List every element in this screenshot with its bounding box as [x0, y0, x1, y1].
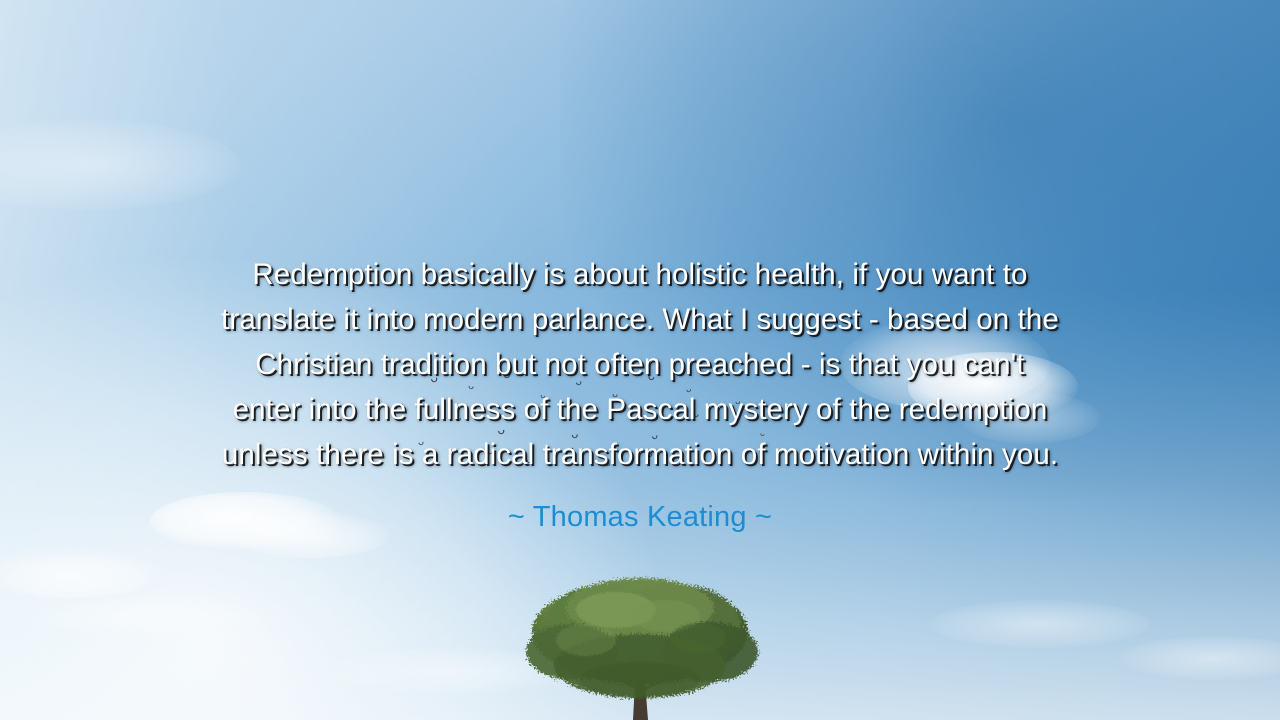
quote-image-canvas: ᴗᴗᴗᴗᴗᴗᴗᴗᴗᴗᴗᴗᴗᴗᴗᴗᴗᴗᴗᴗᴗᴗᴗᴗᴗ — [0, 0, 1280, 720]
attribution-block: ~ Thomas Keating ~ — [0, 498, 1280, 536]
oak-tree-svg — [516, 570, 764, 720]
quote-block: Redemption basically is about holistic h… — [0, 252, 1280, 477]
tree-icon — [516, 570, 764, 720]
quote-text: Redemption basically is about holistic h… — [104, 252, 1176, 477]
attribution-text: ~ Thomas Keating ~ — [0, 498, 1280, 536]
